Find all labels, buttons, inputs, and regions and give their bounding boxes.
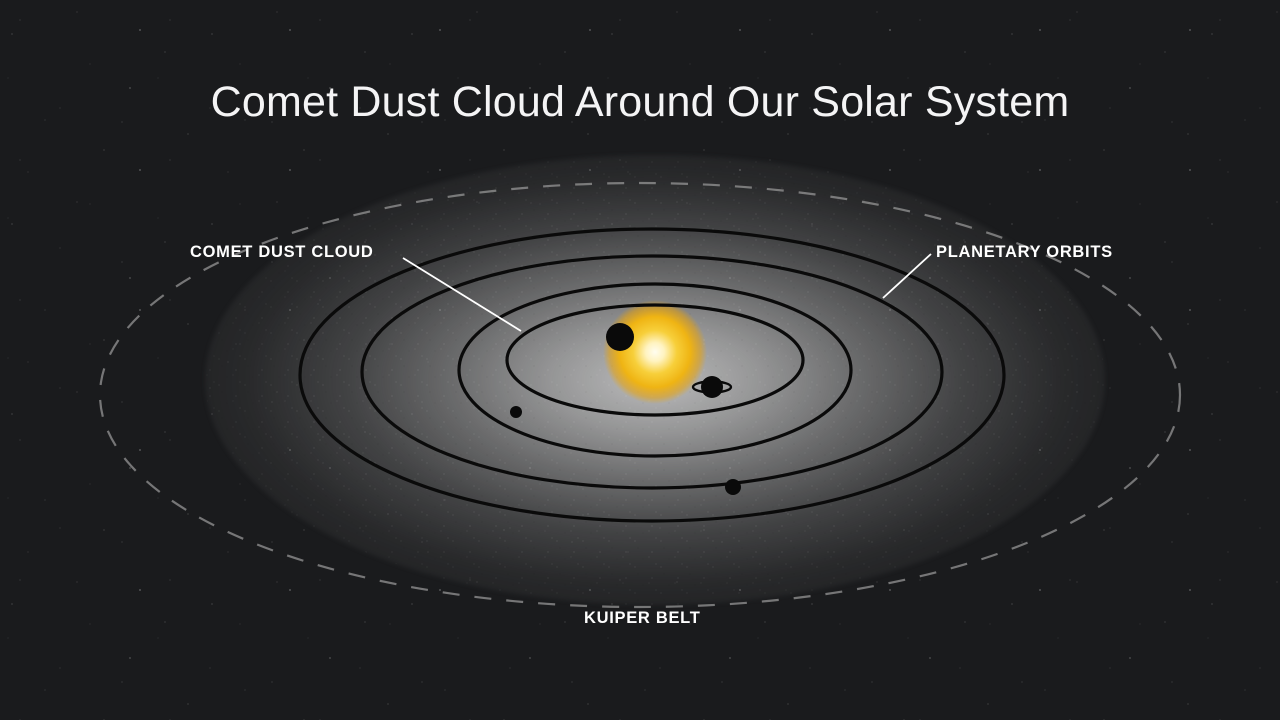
label-comet-dust-cloud: COMET DUST CLOUD [190,243,374,262]
leader-comet-dust-cloud [403,258,521,331]
sun [603,300,707,404]
planet-mid-small [510,406,522,418]
label-kuiper-belt: KUIPER BELT [584,609,700,628]
page-title: Comet Dust Cloud Around Our Solar System [0,78,1280,127]
label-planetary-orbits: PLANETARY ORBITS [936,243,1113,262]
diagram-canvas: Comet Dust Cloud Around Our Solar System… [0,0,1280,720]
planet-inner-large [606,323,634,351]
leader-planetary-orbits [883,254,931,298]
planet-outer [725,479,741,495]
